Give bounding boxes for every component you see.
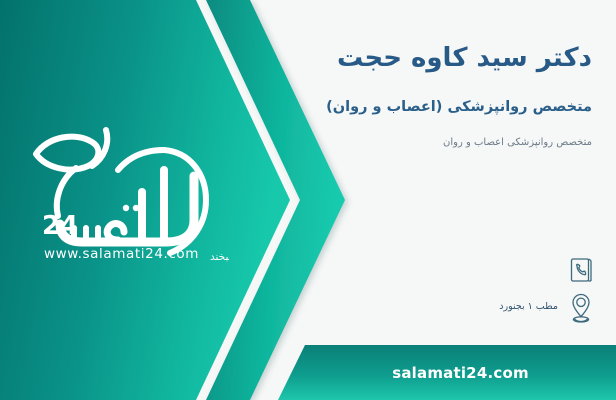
location-pin-icon: [566, 291, 596, 323]
footer-website[interactable]: salamati24.com: [392, 364, 529, 382]
contact-address-label: مطب ۱ بجنورد: [499, 301, 558, 314]
contact-address-row[interactable]: مطب ۱ بجنورد: [499, 291, 596, 323]
wordmark-dot-2: [133, 205, 139, 211]
apple-leaf: [36, 137, 98, 170]
doctor-specialty: متخصص روانپزشکی (اعصاب و روان): [232, 98, 592, 117]
footer-bar: salamati24.com: [305, 345, 616, 400]
wordmark-dot-1: [123, 205, 129, 211]
apple-body-top: [118, 150, 164, 170]
apple-body-left: [57, 168, 76, 216]
business-card: 24 براحتی یک لبخند www.salamati24.com دک…: [0, 0, 616, 400]
logo-website: www.salamati24.com: [14, 246, 229, 262]
phonebook-icon: [566, 254, 596, 286]
logo-number: 24: [42, 211, 78, 241]
contact-phone-row[interactable]: [558, 254, 596, 286]
doctor-caption: متخصص روانپزشکی اعصاب و روان: [232, 136, 592, 149]
salamati24-logo: 24 براحتی یک لبخند www.salamati24.com: [14, 108, 229, 273]
doctor-name: دکتر سید کاوه حجت: [232, 42, 592, 75]
